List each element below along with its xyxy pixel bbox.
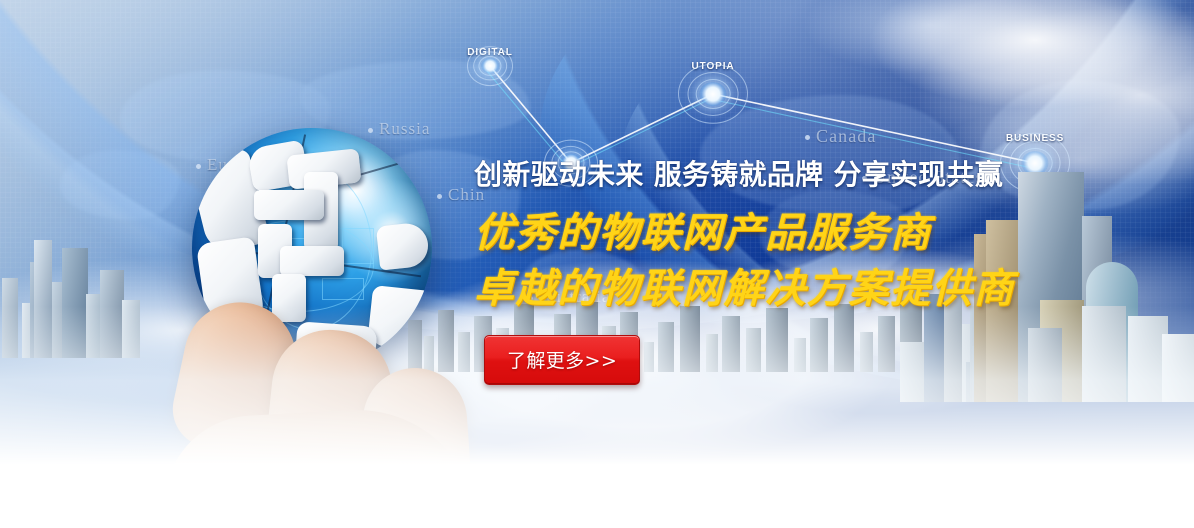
- page-title: 创新驱动未来 服务铸就品牌 分享实现共赢: [474, 160, 1114, 191]
- learn-more-button[interactable]: 了解更多>>: [484, 335, 640, 385]
- subheadline-2: 卓越的物联网解决方案提供商: [474, 269, 1114, 309]
- hero-banner: RussiaEuChinCanadaUnited StatesAustralia…: [0, 0, 1194, 528]
- copy-block: 创新驱动未来 服务铸就品牌 分享实现共赢 优秀的物联网产品服务商 卓越的物联网解…: [474, 160, 1114, 385]
- subheadline-1: 优秀的物联网产品服务商: [474, 213, 1114, 253]
